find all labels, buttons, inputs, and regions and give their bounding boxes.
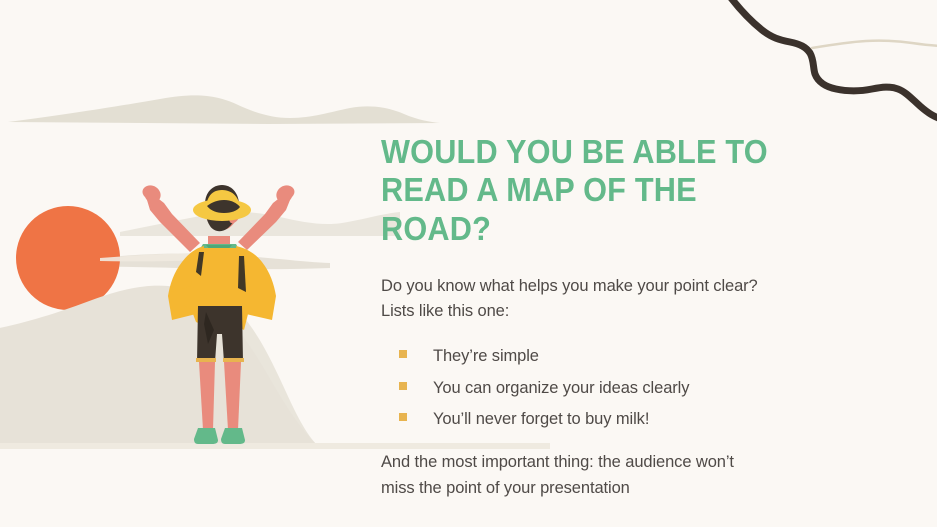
right-fist [276, 185, 294, 203]
jacket-hem [190, 306, 250, 330]
mid-hill-silhouette [120, 212, 400, 236]
square-bullet-icon [399, 350, 407, 358]
right-leg [224, 362, 241, 430]
left-leg [199, 362, 215, 430]
jacket-right-panel [236, 246, 276, 320]
shorts-fold [204, 312, 214, 344]
list-item: You’ll never forget to buy milk! [381, 407, 811, 432]
shirt [190, 244, 248, 310]
sun-streak [100, 253, 248, 262]
shirt-collar [206, 245, 232, 260]
near-hill-silhouette [0, 286, 320, 448]
winding-road-dark [728, 0, 937, 120]
intro-paragraph: Do you know what helps you make your poi… [381, 274, 811, 325]
list-item-label: You’ll never forget to buy milk! [433, 407, 649, 432]
square-bullet-icon [399, 382, 407, 390]
shorts-trim-left [196, 358, 216, 362]
right-shoe [221, 428, 245, 444]
right-arm [238, 196, 290, 250]
person-figure [143, 185, 295, 444]
square-bullet-icon [399, 413, 407, 421]
slide-canvas: WOULD YOU BE ABLE TO READ A MAP OF THE R… [0, 0, 937, 527]
jacket-back [190, 248, 250, 322]
shorts [197, 306, 243, 362]
near-hill-slope-right [196, 292, 336, 448]
hat-brim [193, 199, 251, 221]
cheek [229, 206, 240, 223]
far-hill-silhouette [8, 95, 440, 124]
outro-paragraph: And the most important thing: the audien… [381, 450, 811, 501]
winding-road-light [812, 41, 937, 48]
bullet-list: They’re simple You can organize your ide… [381, 344, 811, 432]
list-item: You can organize your ideas clearly [381, 376, 811, 401]
list-item-label: They’re simple [433, 344, 539, 369]
list-item: They’re simple [381, 344, 811, 369]
haze-band [60, 253, 330, 269]
sun-circle [16, 206, 120, 310]
neck [208, 236, 230, 252]
jacket-shadow-right [238, 256, 246, 292]
left-fist [143, 185, 161, 203]
text-column: WOULD YOU BE ABLE TO READ A MAP OF THE R… [381, 133, 811, 501]
left-shoe [194, 428, 218, 444]
jacket-tail [170, 286, 212, 318]
shorts-trim-right [223, 358, 244, 362]
jacket-shadow-left [196, 252, 204, 276]
page-title: WOULD YOU BE ABLE TO READ A MAP OF THE R… [381, 133, 781, 248]
list-item-label: You can organize your ideas clearly [433, 376, 689, 401]
hair [205, 185, 239, 231]
hat-band [207, 200, 240, 213]
head [206, 188, 239, 230]
hat-crown [206, 190, 240, 215]
jacket [168, 246, 204, 320]
left-arm [147, 196, 200, 252]
